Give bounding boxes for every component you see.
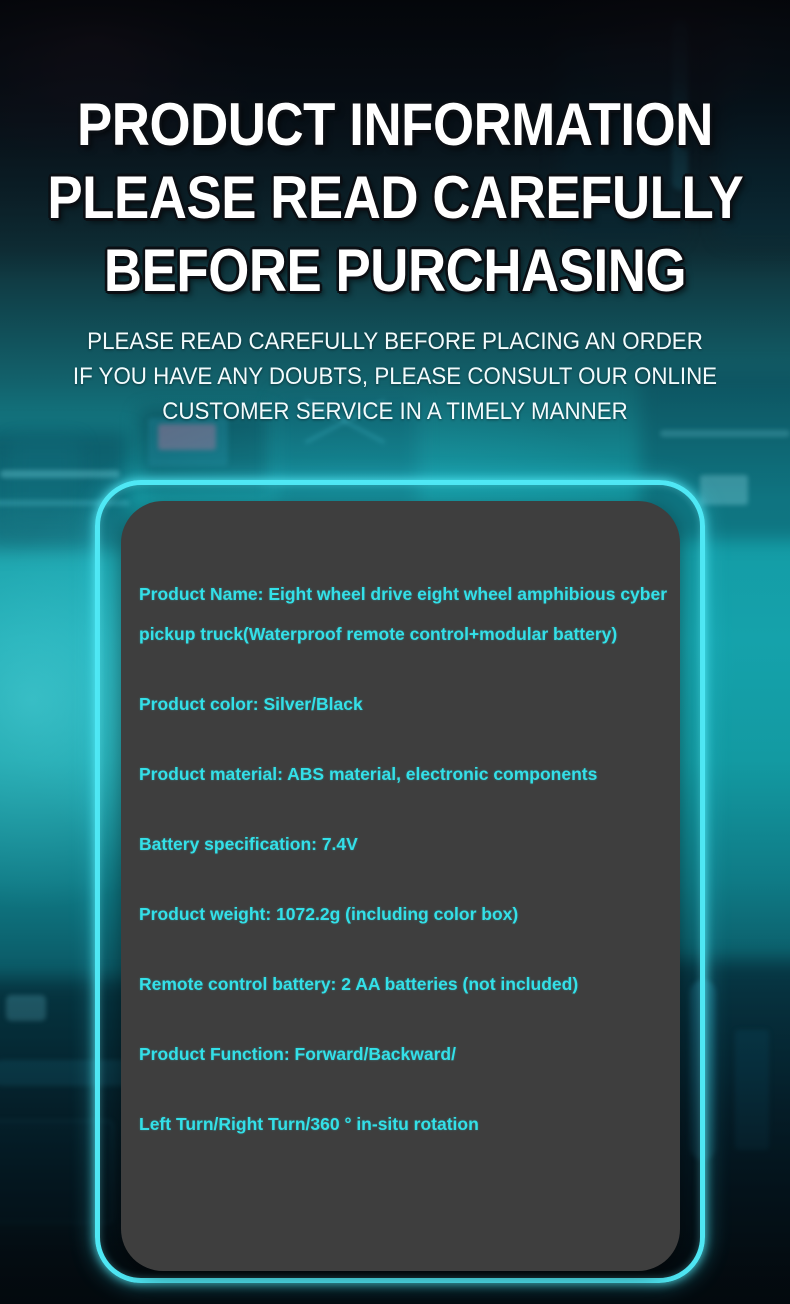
spec-item: Battery specification: 7.4V [139, 824, 679, 864]
headline-line-1: PRODUCT INFORMATION [47, 88, 742, 162]
product-information-page: PRODUCT INFORMATION PLEASE READ CAREFULL… [0, 0, 790, 1304]
spec-item: Product Function: Forward/Backward/ [139, 1034, 679, 1074]
spec-item: Left Turn/Right Turn/360 ° in-situ rotat… [139, 1104, 679, 1144]
spec-item: Remote control battery: 2 AA batteries (… [139, 964, 679, 1004]
spec-item: Product color: Silver/Black [139, 684, 679, 724]
spec-item: Product material: ABS material, electron… [139, 754, 679, 794]
subheading-line-2: IF YOU HAVE ANY DOUBTS, PLEASE CONSULT O… [28, 359, 763, 394]
headline-line-2: PLEASE READ CAREFULLY [47, 161, 742, 235]
subheading-line-1: PLEASE READ CAREFULLY BEFORE PLACING AN … [28, 324, 763, 359]
headline-line-3: BEFORE PURCHASING [47, 234, 742, 308]
subheading-line-3: CUSTOMER SERVICE IN A TIMELY MANNER [28, 394, 763, 429]
spec-item: Product weight: 1072.2g (including color… [139, 894, 679, 934]
spec-item: Product Name: Eight wheel drive eight wh… [139, 574, 679, 654]
specification-list: Product Name: Eight wheel drive eight wh… [139, 574, 679, 1144]
